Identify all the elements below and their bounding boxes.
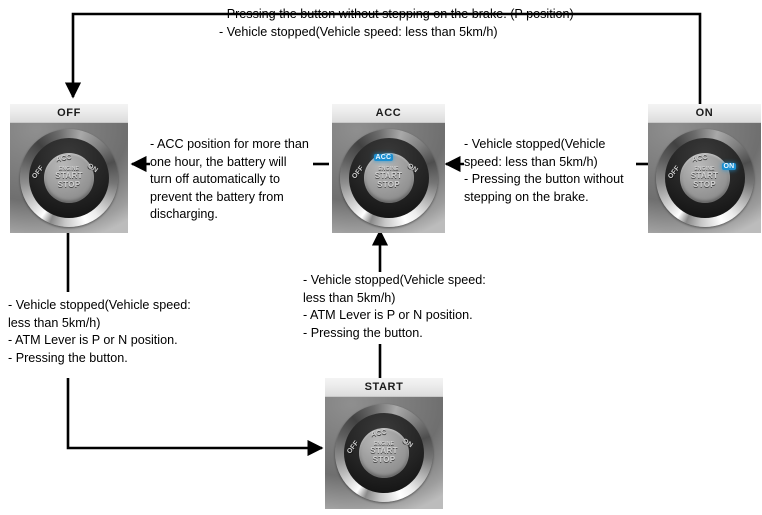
transition-note-start-to-acc: - Vehicle stopped(Vehicle speed: less th… (303, 272, 518, 342)
start-stop-knob[interactable]: ENGINE START STOP OFF ACC ON (656, 129, 754, 227)
knob-face-line-3: STOP (373, 456, 396, 464)
transition-note-on-to-acc: - Vehicle stopped(Vehicle speed: less th… (464, 136, 650, 206)
button-graphic-start: ENGINE START STOP OFF ACC ON (325, 397, 443, 509)
start-stop-knob[interactable]: ENGINE START STOP OFF ACC ON (335, 404, 433, 502)
state-label-acc-bar: ACC (332, 104, 445, 123)
ring-label-acc-active: ACC (374, 154, 394, 161)
state-label-start-bar: START (325, 378, 443, 397)
state-node-off[interactable]: OFF ENGINE START STOP OFF ACC ON (10, 104, 128, 232)
state-label-on-bar: ON (648, 104, 761, 123)
state-label-acc: ACC (376, 108, 402, 119)
button-graphic-off: ENGINE START STOP OFF ACC ON (10, 123, 128, 233)
knob-face-line-3: STOP (377, 181, 400, 189)
ring-label-on-active: ON (722, 163, 737, 170)
transition-note-on-to-off: - Pressing the button without stepping o… (219, 6, 619, 41)
transition-note-acc-to-off: - ACC position for more than one hour, t… (150, 136, 326, 224)
button-graphic-on: ENGINE START STOP OFF ACC ON (648, 123, 761, 233)
state-label-off-bar: OFF (10, 104, 128, 123)
diagram-canvas: OFF ENGINE START STOP OFF ACC ON ACC (0, 0, 762, 515)
wire-off-to-start-lower (68, 378, 322, 448)
start-stop-knob[interactable]: ENGINE START STOP OFF ACC ON (340, 129, 438, 227)
state-label-start: START (365, 382, 404, 393)
state-node-start[interactable]: START ENGINE START STOP OFF ACC ON (325, 378, 443, 508)
knob-face-line-3: STOP (58, 181, 81, 189)
state-label-off: OFF (57, 108, 81, 119)
transition-note-off-to-start: - Vehicle stopped(Vehicle speed: less th… (8, 297, 220, 367)
state-node-acc[interactable]: ACC ENGINE START STOP OFF ACC ON (332, 104, 445, 232)
button-graphic-acc: ENGINE START STOP OFF ACC ON (332, 123, 445, 233)
state-node-on[interactable]: ON ENGINE START STOP OFF ACC ON (648, 104, 761, 232)
state-label-on: ON (696, 108, 714, 119)
start-stop-knob[interactable]: ENGINE START STOP OFF ACC ON (20, 129, 118, 227)
knob-face-line-3: STOP (693, 181, 716, 189)
